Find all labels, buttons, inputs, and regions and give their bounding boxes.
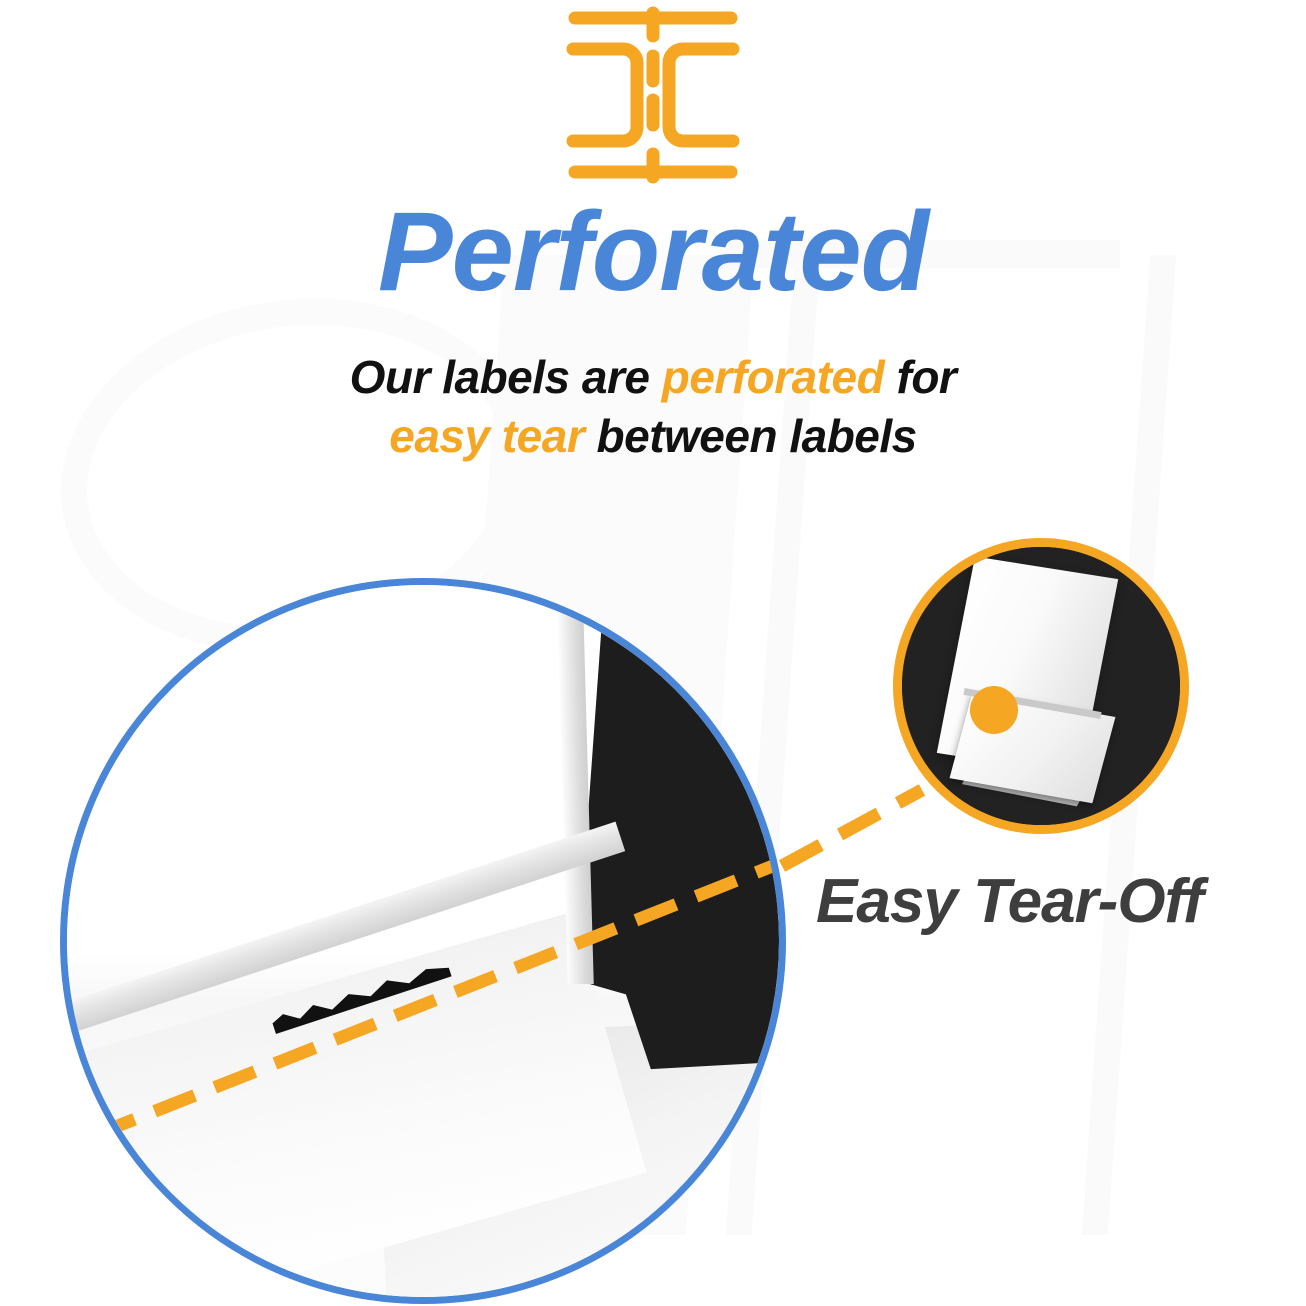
logo-container bbox=[0, 6, 1306, 184]
perforation-closeup-circle bbox=[60, 578, 786, 1304]
page-subtitle: Our labels are perforated for easy tear … bbox=[0, 348, 1306, 466]
perforation-marker-dot bbox=[970, 686, 1018, 734]
subtitle-line-1: Our labels are perforated for bbox=[0, 348, 1306, 407]
subtitle-line1-after: for bbox=[897, 351, 957, 403]
promo-graphic-page: Perforated Our labels are perforated for… bbox=[0, 0, 1306, 1306]
tear-off-inset-circle bbox=[893, 538, 1189, 834]
subtitle-line1-before: Our labels are bbox=[350, 351, 650, 403]
closeup-photo bbox=[67, 585, 779, 1297]
subtitle-line2-after: between labels bbox=[597, 410, 917, 462]
subtitle-line1-highlight: perforated bbox=[662, 351, 884, 403]
perforation-dashed-line bbox=[67, 585, 779, 1297]
tear-off-photo bbox=[902, 547, 1180, 825]
perforation-tear-icon bbox=[563, 6, 743, 184]
subtitle-line-2: easy tear between labels bbox=[0, 407, 1306, 466]
page-title: Perforated bbox=[0, 196, 1306, 308]
subtitle-line2-highlight: easy tear bbox=[389, 410, 584, 462]
tear-off-caption: Easy Tear-Off bbox=[816, 866, 1203, 937]
